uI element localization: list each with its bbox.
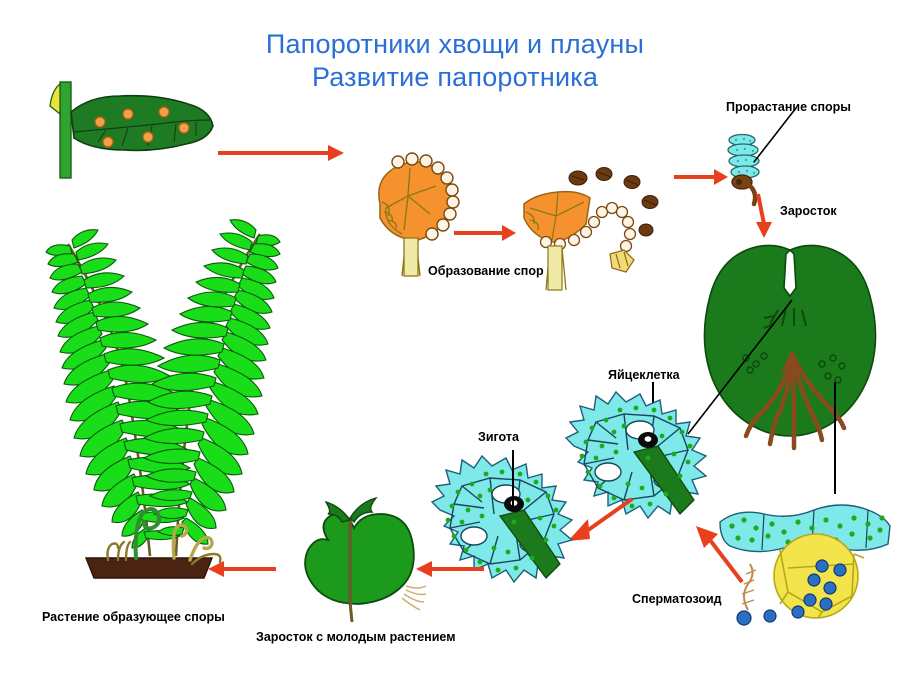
leader-line-spore-germination — [752, 106, 802, 166]
label-spore-germination: Прорастание споры — [726, 100, 851, 114]
label-prothallus: Заросток — [780, 204, 837, 218]
arrow-antheridium-to-egg — [694, 524, 750, 588]
label-spermatozoid: Сперматозоид — [632, 592, 722, 606]
label-egg-cell: Яйцеклетка — [608, 368, 680, 382]
sporangium-closed — [358, 152, 468, 282]
prothallus-with-young-sporophyte — [288, 484, 428, 624]
arrow-spore-to-prothallus — [748, 192, 776, 240]
adult-fern-sporophyte — [24, 192, 286, 592]
title-line-1: Папоротники хвощи и плауны — [266, 29, 644, 59]
leader-line-zygote — [508, 450, 518, 508]
fern-life-cycle-diagram: Папоротники хвощи и плауны Развитие папо… — [0, 0, 910, 683]
leaf-with-sori — [38, 80, 228, 180]
label-prothallus-with-young-plant: Заросток с молодым растением — [256, 630, 455, 644]
label-spore-producing-plant: Растение образующее споры — [42, 610, 225, 624]
label-spore-formation: Образование спор — [428, 264, 544, 278]
leader-line-antheridium — [830, 382, 840, 494]
label-zygote: Зигота — [478, 430, 519, 444]
arrow-leaf-to-sporangium — [216, 142, 346, 164]
